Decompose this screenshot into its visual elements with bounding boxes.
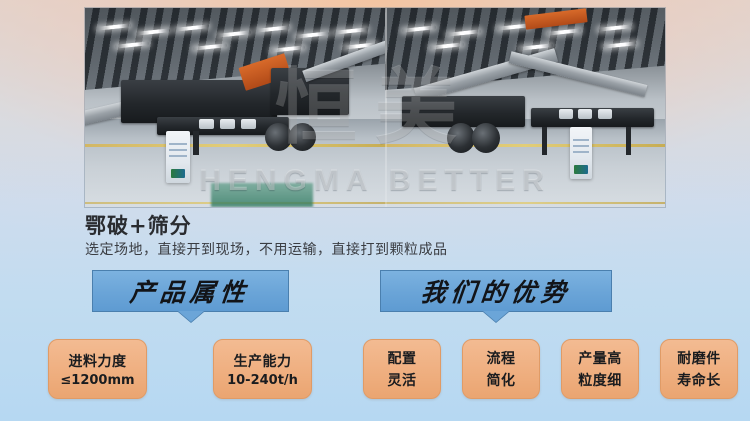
photo-seam-divider bbox=[385, 8, 387, 207]
chassis-beam bbox=[531, 108, 654, 128]
factory-floor bbox=[385, 119, 665, 207]
chassis-panel-1 bbox=[559, 109, 573, 119]
section-header-our-advantages: 我们的优势 bbox=[380, 270, 612, 312]
product-photo-banner: 恒美 HENGMA BETTER bbox=[85, 8, 665, 207]
advantage-card: 耐磨件 寿命长 bbox=[660, 339, 738, 399]
trailer-wheel-1 bbox=[447, 123, 475, 153]
advantage-card-line1: 产量高 bbox=[578, 348, 622, 368]
support-leg-2 bbox=[626, 127, 632, 155]
section-header-label: 产品属性 bbox=[129, 273, 253, 309]
page-title: 鄂破+筛分 bbox=[85, 210, 192, 240]
advantage-card-line2: 灵活 bbox=[388, 370, 417, 390]
spec-card-line2: ≤1200mm bbox=[60, 373, 134, 388]
spec-card: 生产能力 10-240t/h bbox=[213, 339, 312, 399]
spec-card-line2: 10-240t/h bbox=[227, 373, 298, 388]
section-header-label: 我们的优势 bbox=[419, 273, 573, 309]
spec-card-row: 进料力度 ≤1200mm 生产能力 10-240t/h 配置 灵活 流程 简化 … bbox=[0, 339, 750, 397]
floor-sign-left bbox=[166, 131, 190, 183]
chassis-panel-3 bbox=[241, 119, 256, 129]
section-header-product-attributes: 产品属性 bbox=[92, 270, 289, 312]
advantage-card-line2: 简化 bbox=[487, 370, 516, 390]
page-subtitle: 选定场地，直接开到现场，不用运输，直接打到颗粒成品 bbox=[85, 239, 448, 259]
spec-card-line1: 进料力度 bbox=[69, 351, 127, 371]
advantage-card-line2: 粒度细 bbox=[578, 370, 622, 390]
spec-card-line1: 生产能力 bbox=[234, 351, 292, 371]
advantage-card-line2: 寿命长 bbox=[677, 370, 721, 390]
floor-sign-right bbox=[570, 127, 592, 179]
advantage-card: 产量高 粒度细 bbox=[561, 339, 639, 399]
advantage-card-line1: 耐磨件 bbox=[677, 348, 721, 368]
support-leg-2 bbox=[193, 131, 199, 155]
chassis-panel-3 bbox=[598, 109, 612, 119]
chassis-panel-1 bbox=[199, 119, 214, 129]
spec-card: 进料力度 ≤1200mm bbox=[48, 339, 147, 399]
chassis-panel-2 bbox=[578, 109, 592, 119]
promo-page: 恒美 HENGMA BETTER 鄂破+筛分 选定场地，直接开到现场，不用运输，… bbox=[0, 0, 750, 421]
advantage-card: 流程 简化 bbox=[462, 339, 540, 399]
chassis-panel-2 bbox=[220, 119, 235, 129]
photo-left-jaw-crusher bbox=[85, 8, 385, 207]
trailer-wheel-2 bbox=[472, 123, 500, 153]
advantage-card-line1: 流程 bbox=[487, 348, 516, 368]
advantage-card-line1: 配置 bbox=[388, 348, 417, 368]
advantage-card: 配置 灵活 bbox=[363, 339, 441, 399]
photo-right-screening-plant bbox=[385, 8, 665, 207]
support-leg-1 bbox=[542, 127, 548, 155]
floor-green-patch bbox=[211, 183, 313, 207]
